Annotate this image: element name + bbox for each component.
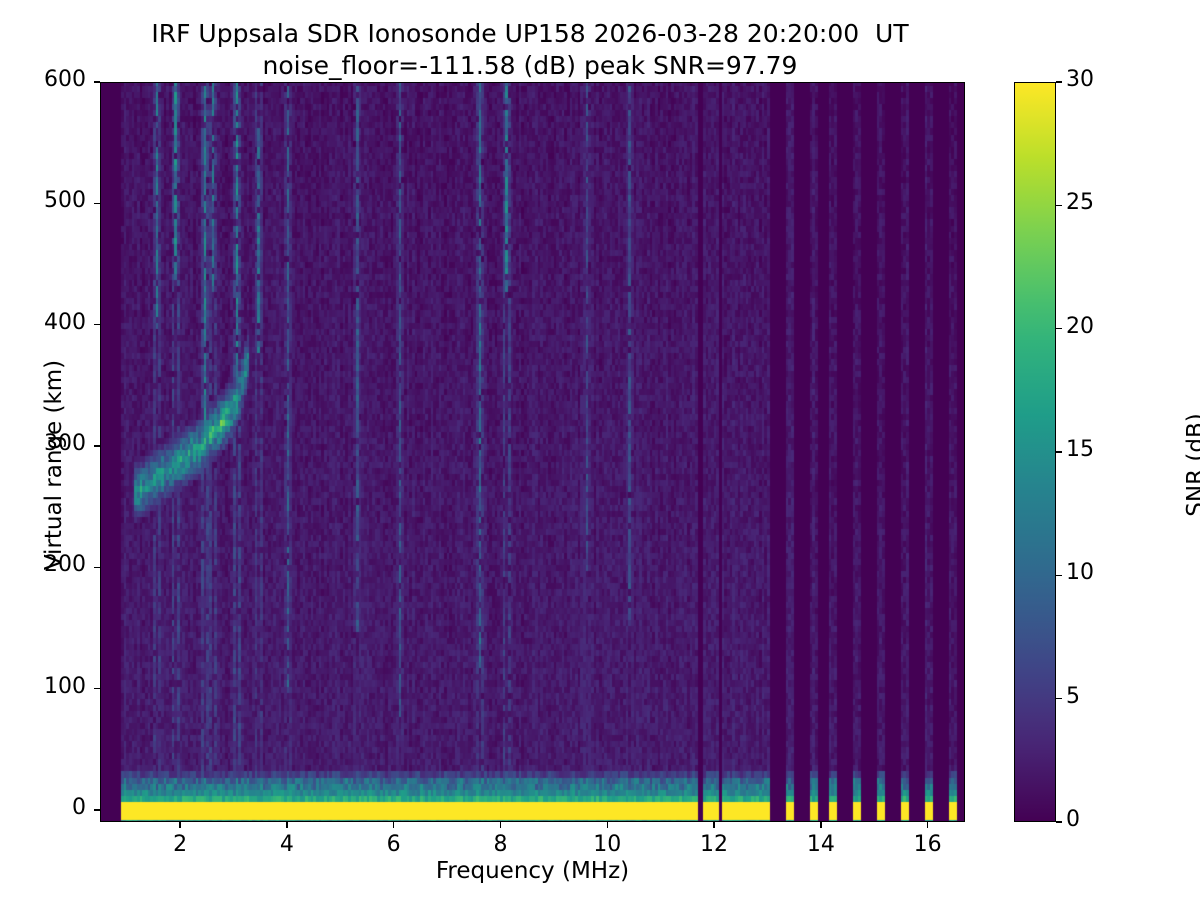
colorbar-tick [1056,698,1062,699]
x-tick-label: 10 [577,832,637,857]
x-tick-label: 2 [150,832,210,857]
title-line-1: IRF Uppsala SDR Ionosonde UP158 2026-03-… [0,18,1060,50]
x-tick-label: 4 [257,832,317,857]
colorbar-tick-label: 30 [1066,67,1094,92]
colorbar-tick-label: 20 [1066,314,1094,339]
x-tick [927,822,928,828]
colorbar-tick [1056,575,1062,576]
x-tick [500,822,501,828]
y-tick [94,203,100,204]
y-tick [94,81,100,82]
ionogram-plot-area [100,82,965,822]
x-tick [820,822,821,828]
x-tick [393,822,394,828]
y-tick [94,809,100,810]
y-tick [94,324,100,325]
figure-title: IRF Uppsala SDR Ionosonde UP158 2026-03-… [0,18,1060,82]
x-tick [713,822,714,828]
colorbar-label: SNR (dB) [1183,95,1200,835]
colorbar-tick [1056,205,1062,206]
colorbar [1014,82,1056,822]
colorbar-tick [1056,81,1062,82]
colorbar-tick [1056,451,1062,452]
colorbar-gradient [1014,82,1056,822]
colorbar-tick-label: 15 [1066,437,1094,462]
y-tick [94,445,100,446]
ionogram-figure: IRF Uppsala SDR Ionosonde UP158 2026-03-… [0,0,1200,900]
y-tick [94,567,100,568]
x-tick-label: 12 [684,832,744,857]
x-tick-label: 8 [470,832,530,857]
colorbar-tick-label: 0 [1066,807,1080,832]
y-tick [94,688,100,689]
title-line-2: noise_floor=-111.58 (dB) peak SNR=97.79 [0,50,1060,82]
x-tick-label: 6 [364,832,424,857]
ionogram-heatmap [101,83,965,822]
colorbar-tick [1056,328,1062,329]
x-tick [286,822,287,828]
colorbar-tick-label: 10 [1066,560,1094,585]
y-axis-label: Virtual range (km) [41,95,67,835]
x-tick [179,822,180,828]
colorbar-tick [1056,821,1062,822]
x-tick-label: 14 [791,832,851,857]
colorbar-tick-label: 5 [1066,684,1080,709]
y-tick-label: 600 [14,67,86,92]
colorbar-tick-label: 25 [1066,190,1094,215]
x-tick-label: 16 [898,832,958,857]
x-tick [607,822,608,828]
x-axis-label: Frequency (MHz) [100,858,965,884]
